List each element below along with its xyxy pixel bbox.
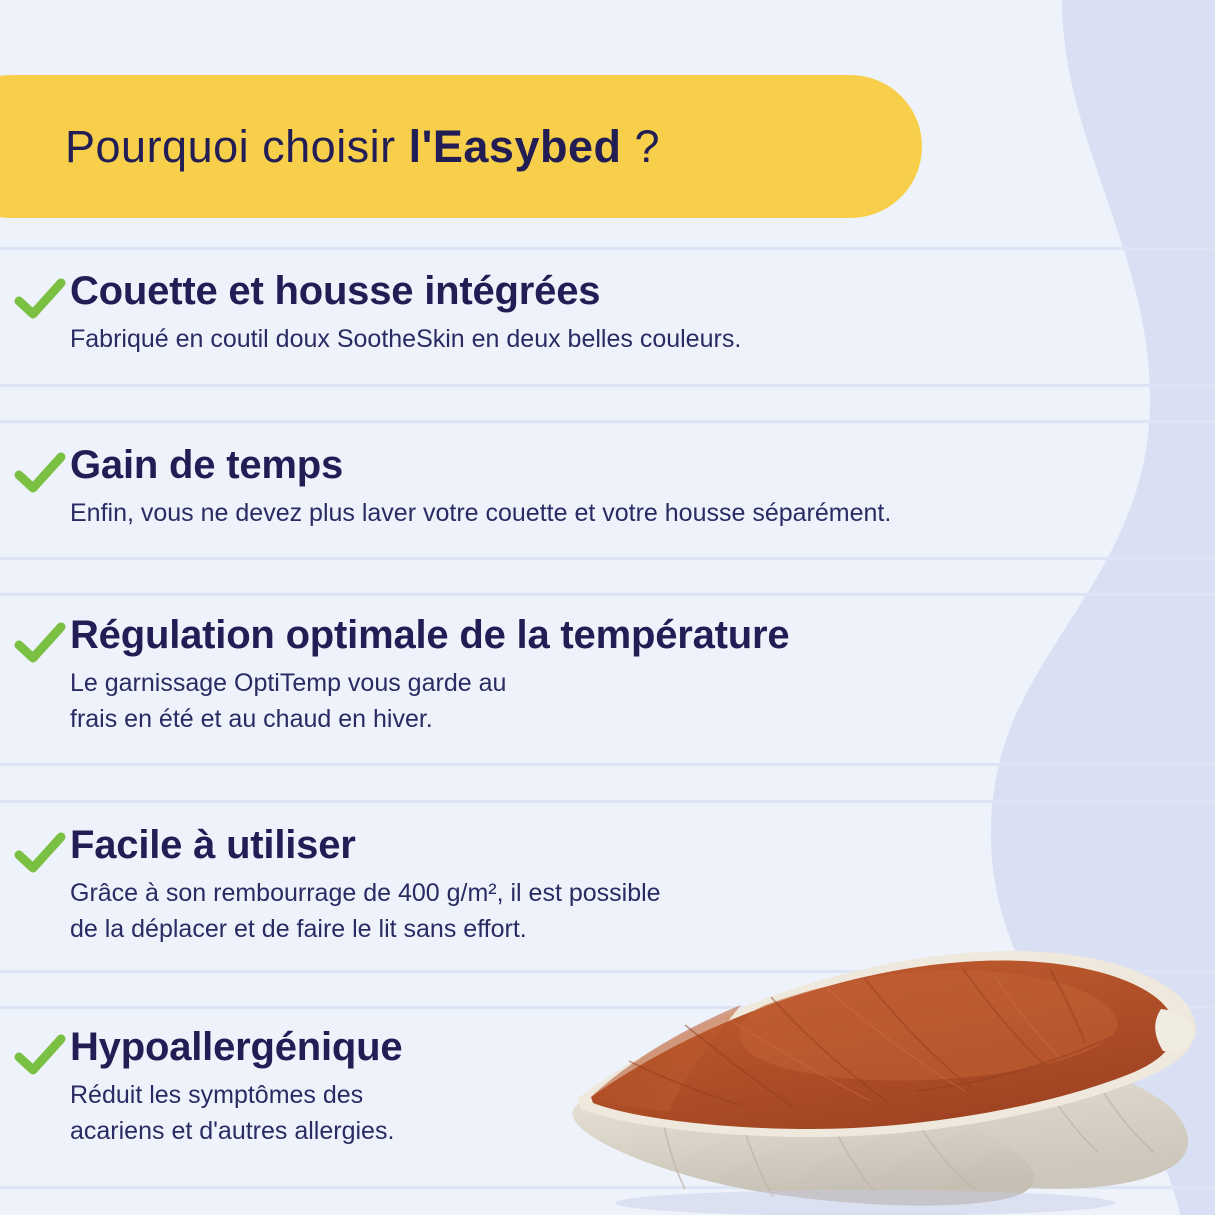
feature-title: Facile à utiliser <box>70 824 661 866</box>
check-icon <box>14 1026 70 1078</box>
feature-item-facile-a-utiliser: Facile à utiliser Grâce à son rembourrag… <box>0 824 661 948</box>
feature-text: Couette et housse intégrées Fabriqué en … <box>70 270 741 357</box>
check-icon <box>14 270 70 322</box>
feature-text: Gain de temps Enfin, vous ne devez plus … <box>70 444 891 531</box>
feature-title: Régulation optimale de la température <box>70 614 789 656</box>
feature-description: Enfin, vous ne devez plus laver votre co… <box>70 495 891 531</box>
feature-title: Hypoallergénique <box>70 1026 402 1068</box>
rule-line-8 <box>0 1006 1215 1009</box>
rule-line-9 <box>0 1186 1215 1189</box>
rule-line-7 <box>0 970 1215 973</box>
page-title-suffix: ? <box>621 121 660 172</box>
rule-line-3 <box>0 557 1215 560</box>
feature-item-gain-de-temps: Gain de temps Enfin, vous ne devez plus … <box>0 444 891 531</box>
rule-line-6 <box>0 800 1215 803</box>
rule-line-2 <box>0 420 1215 423</box>
page-title-brand: l'Easybed <box>409 121 622 172</box>
feature-text: Régulation optimale de la température Le… <box>70 614 789 738</box>
feature-item-regulation-temperature: Régulation optimale de la température Le… <box>0 614 789 738</box>
feature-item-hypoallergenique: Hypoallergénique Réduit les symptômes de… <box>0 1026 402 1150</box>
feature-description: Réduit les symptômes des acariens et d'a… <box>70 1077 402 1150</box>
feature-text: Hypoallergénique Réduit les symptômes de… <box>70 1026 402 1150</box>
infographic-stage: Pourquoi choisir l'Easybed ? Couette et … <box>0 0 1215 1215</box>
rule-line-0 <box>0 247 1215 250</box>
feature-item-couette: Couette et housse intégrées Fabriqué en … <box>0 270 741 357</box>
rule-line-5 <box>0 763 1215 766</box>
folded-duvet-photo <box>565 885 1215 1215</box>
feature-description: Grâce à son rembourrage de 400 g/m², il … <box>70 875 661 948</box>
feature-description: Fabriqué en coutil doux SootheSkin en de… <box>70 321 741 357</box>
rule-line-1 <box>0 384 1215 387</box>
check-icon <box>14 444 70 496</box>
check-icon <box>14 824 70 876</box>
rule-line-4 <box>0 593 1215 596</box>
page-title: Pourquoi choisir l'Easybed ? <box>65 124 660 169</box>
check-icon <box>14 614 70 666</box>
feature-description: Le garnissage OptiTemp vous garde au fra… <box>70 665 789 738</box>
header-banner: Pourquoi choisir l'Easybed ? <box>0 75 922 218</box>
feature-text: Facile à utiliser Grâce à son rembourrag… <box>70 824 661 948</box>
feature-title: Couette et housse intégrées <box>70 270 741 312</box>
page-title-prefix: Pourquoi choisir <box>65 121 409 172</box>
feature-title: Gain de temps <box>70 444 891 486</box>
